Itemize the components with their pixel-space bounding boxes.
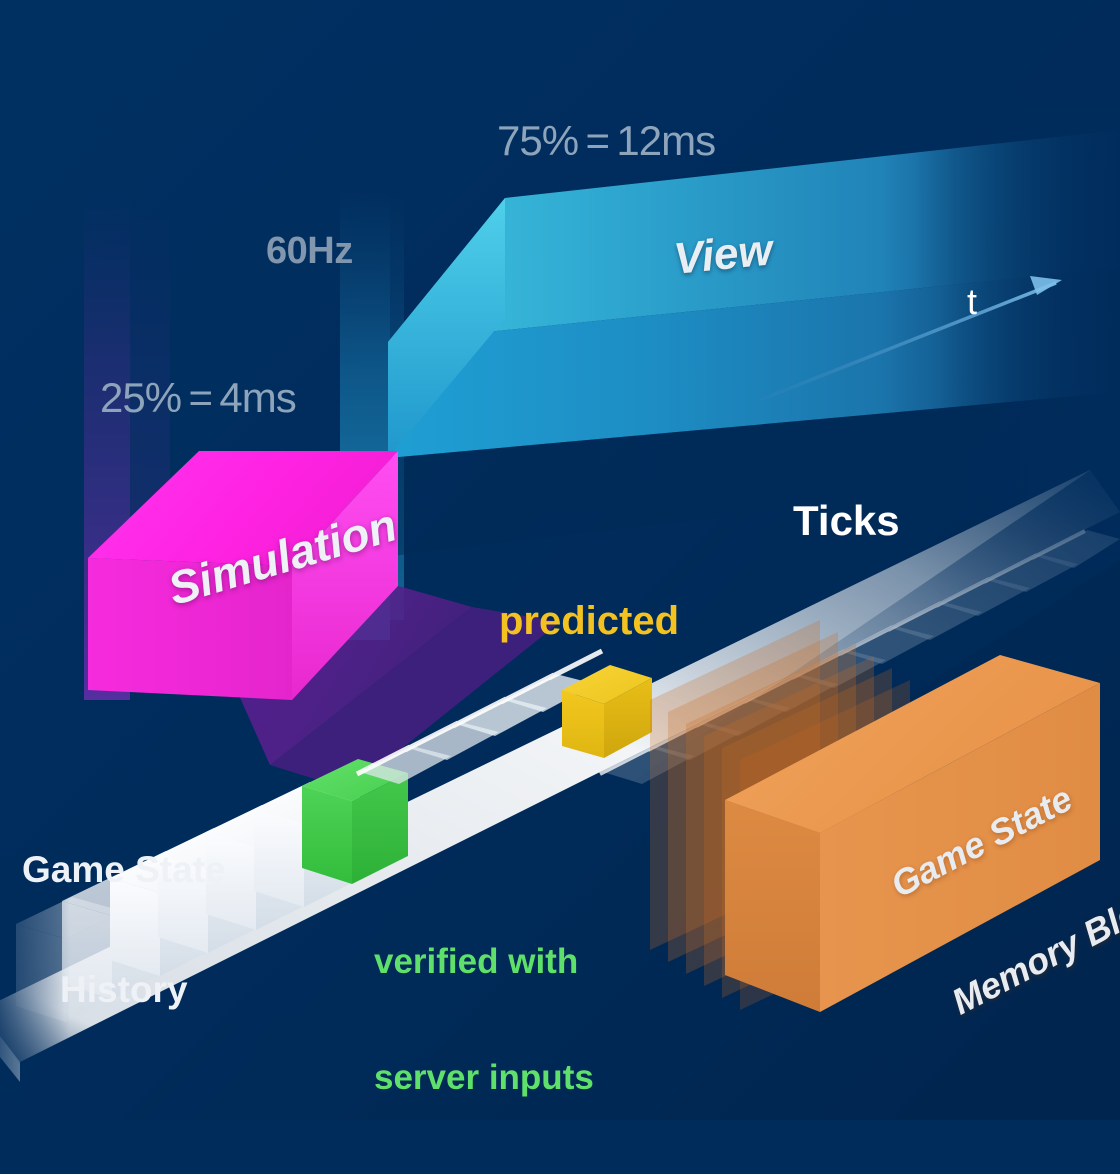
history-label: Game State History — [22, 770, 226, 1090]
verified-label-line2: server inputs — [374, 1059, 594, 1098]
history-label-line2: History — [22, 970, 226, 1010]
budget-sim-label: 25% = 4ms — [100, 377, 296, 420]
budget-view-label: 75% = 12ms — [497, 120, 715, 163]
verified-label: verified with server inputs — [374, 866, 594, 1174]
memory-block-label-line1: Game State — [884, 754, 1120, 907]
history-label-line1: Game State — [22, 850, 226, 890]
view-block-label: View — [672, 228, 775, 282]
predicted-label: predicted — [499, 601, 679, 642]
frequency-label: 60Hz — [266, 232, 353, 271]
diagram-canvas: 75% = 12ms 60Hz 25% = 4ms t View Simulat… — [0, 0, 1120, 1120]
verified-label-line1: verified with — [374, 943, 594, 982]
verified-cube-front — [302, 786, 352, 884]
time-axis-label: t — [967, 284, 977, 321]
view-block-right-fade — [880, 100, 1120, 520]
ticks-label: Ticks — [793, 500, 900, 543]
memory-block-left-face — [725, 800, 820, 1012]
memory-block-label-line2: Memory Block — [944, 871, 1120, 1024]
